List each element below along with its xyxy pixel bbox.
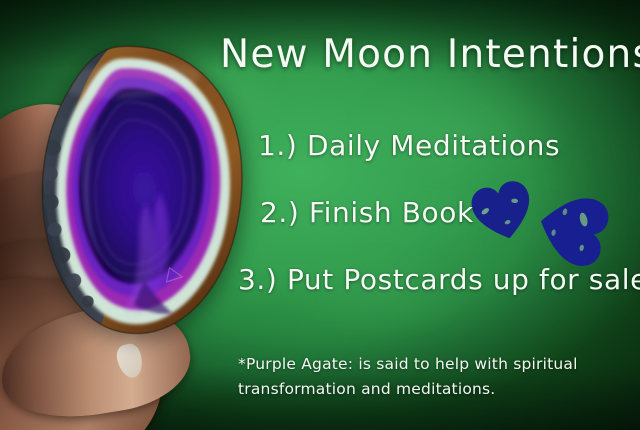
- intention-item-3: 3.) Put Postcards up for sale.: [238, 263, 640, 296]
- page-title: New Moon Intentions: [220, 32, 640, 77]
- footnote-line-1: *Purple Agate: is said to help with spir…: [238, 355, 578, 373]
- intention-item-2: 2.) Finish Book: [260, 196, 474, 229]
- footnote: *Purple Agate: is said to help with spir…: [238, 352, 610, 402]
- purple-agate-slice: [8, 36, 260, 343]
- poster-canvas: New Moon Intentions 1.) Daily Meditation…: [0, 0, 640, 430]
- footnote-line-2: transformation and meditations.: [238, 377, 610, 402]
- intention-item-1: 1.) Daily Meditations: [258, 129, 560, 162]
